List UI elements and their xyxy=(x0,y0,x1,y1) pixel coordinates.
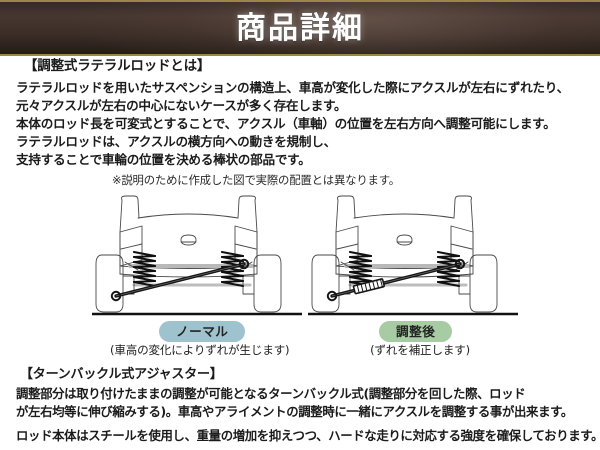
page-header-banner: 商品詳細 xyxy=(0,0,600,56)
adjuster-closing-line: ロッド本体はスチールを使用し、重量の増加を抑えつつ、ハードな走りに対応する強度を… xyxy=(16,428,600,444)
intro-line-4: ラテラルロッドは、アクスルの横方向への動きを規制し、 xyxy=(16,133,600,151)
adjuster-text-block: 【ターンバックル式アジャスター】 調整部分は取り付けたままの調整が可能となるター… xyxy=(0,366,600,421)
adjuster-line-1: 調整部分は取り付けたままの調整が可能となるターンバックル式(調整部分を回した際、… xyxy=(16,385,600,403)
adjuster-line-2: が左右均等に伸び縮みする)。車高やアライメントの調整時に一緒にアクスルを調整する… xyxy=(16,403,600,421)
diagram-note: ※説明のために作成した図で実際の配置とは異なります。 xyxy=(112,174,400,188)
intro-line-3: 本体のロッド長を可変式とすることで、アクスル（車軸）の位置を左右方向へ調整可能に… xyxy=(16,115,600,133)
intro-line-2: 元々アクスルが左右の中心にないケースが多く存在します。 xyxy=(16,97,600,115)
intro-line-1: ラテラルロッドを用いたサスペンションの構造上、車高が変化した際にアクスルが左右に… xyxy=(16,79,600,97)
diagram-normal xyxy=(92,192,302,320)
diagram-caption-row: (車高の変化によりずれが生じます) (ずれを補正します) xyxy=(0,343,600,363)
badge-normal: ノーマル xyxy=(159,321,245,342)
page-title: 商品詳細 xyxy=(236,14,364,44)
caption-adjusted: (ずれを補正します) xyxy=(340,343,500,358)
diagram-badge-row: ノーマル 調整後 xyxy=(0,321,600,345)
diagram-adjusted xyxy=(308,192,518,320)
intro-text-block: 【調整式ラテラルロッドとは】 ラテラルロッドを用いたサスペンションの構造上、車高… xyxy=(0,58,600,169)
intro-heading: 【調整式ラテラルロッドとは】 xyxy=(24,58,600,76)
adjuster-heading: 【ターンバックル式アジャスター】 xyxy=(20,366,600,383)
caption-normal: (車高の変化によりずれが生じます) xyxy=(110,343,270,358)
badge-adjusted: 調整後 xyxy=(379,321,452,342)
intro-line-5: 支持することで車輪の位置を決める棒状の部品です。 xyxy=(16,151,600,169)
diagram-area xyxy=(0,192,600,320)
